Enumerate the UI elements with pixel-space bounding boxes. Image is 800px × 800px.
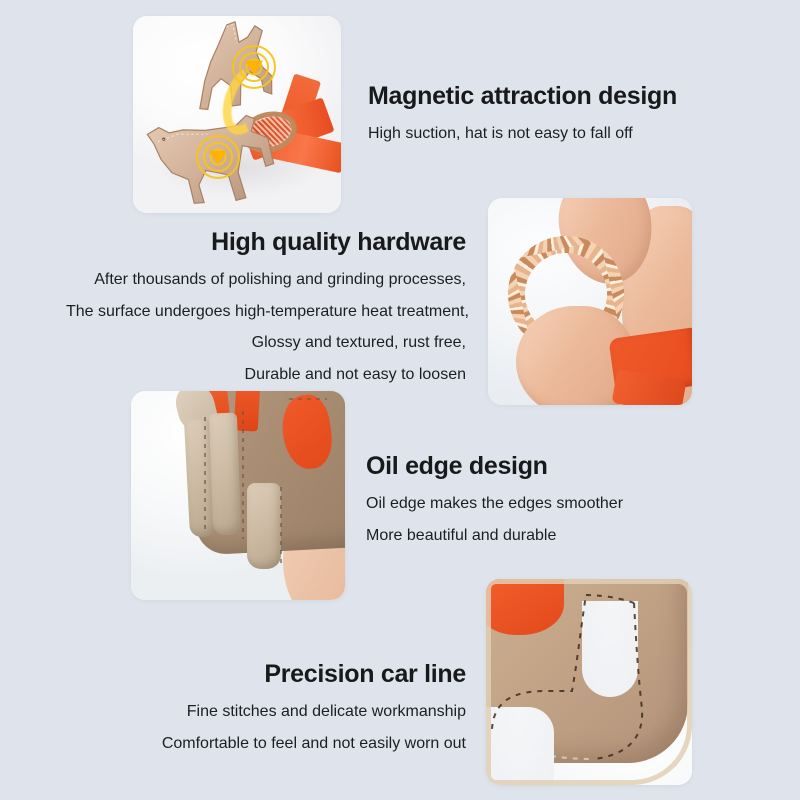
feature-2-line-4: Durable and not easy to loosen	[66, 364, 466, 387]
feature-1-title: Magnetic attraction design	[368, 82, 668, 111]
feature-1-text-block: Magnetic attraction design High suction,…	[368, 82, 668, 146]
feature-3-line-2: More beautiful and durable	[366, 525, 666, 548]
feature-4-title: Precision car line	[140, 660, 466, 689]
feature-4-line-2: Comfortable to feel and not easily worn …	[140, 733, 466, 756]
magnet-indicator-upper	[231, 44, 277, 90]
stitch-overlay	[131, 391, 345, 600]
feature-4-line-1: Fine stitches and delicate workmanship	[140, 701, 466, 724]
feature-3-text-block: Oil edge design Oil edge makes the edges…	[366, 452, 666, 547]
hand-holding-keyring-photo[interactable]	[488, 198, 692, 405]
precision-stitch-line	[486, 579, 692, 785]
magnetic-keychain-photo[interactable]	[133, 16, 341, 213]
feature-2-line-2: The surface undergoes high-temperature h…	[66, 301, 466, 324]
stitching-closeup-photo[interactable]	[486, 579, 692, 785]
feature-4-text-block: Precision car line Fine stitches and del…	[140, 660, 466, 755]
magnet-indicator-lower	[195, 134, 241, 180]
infographic-page: Magnetic attraction design High suction,…	[0, 0, 800, 800]
oil-edge-legs-photo[interactable]	[131, 391, 345, 600]
feature-2-line-1: After thousands of polishing and grindin…	[66, 269, 466, 292]
magnetic-keychain-photo-inner	[133, 16, 341, 213]
feature-2-title: High quality hardware	[66, 228, 466, 257]
stitching-closeup-photo-inner	[486, 579, 692, 785]
feature-2-line-3: Glossy and textured, rust free,	[66, 332, 466, 355]
feature-1-line-1: High suction, hat is not easy to fall of…	[368, 123, 668, 146]
feature-2-text-block: High quality hardware After thousands of…	[66, 228, 466, 387]
feature-3-title: Oil edge design	[366, 452, 666, 481]
oil-edge-legs-photo-inner	[131, 391, 345, 600]
hand-holding-keyring-photo-inner	[488, 198, 692, 405]
feature-3-line-1: Oil edge makes the edges smoother	[366, 493, 666, 516]
